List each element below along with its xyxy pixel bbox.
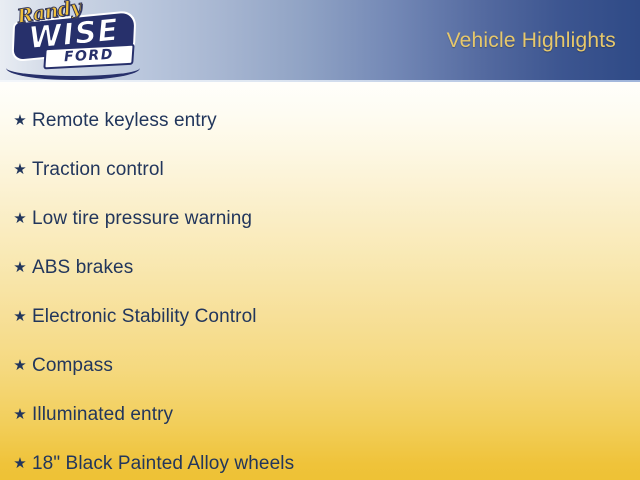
star-bullet-icon: ★ [8, 260, 32, 275]
star-bullet-icon: ★ [8, 113, 32, 128]
highlight-label: Illuminated entry [32, 403, 640, 427]
star-bullet-icon: ★ [8, 162, 32, 177]
logo-ford-group: FORD [43, 44, 134, 71]
page-title: Vehicle Highlights [447, 29, 616, 53]
star-bullet-icon: ★ [8, 211, 32, 226]
star-bullet-icon: ★ [8, 407, 32, 422]
logo-brand-name: FORD [43, 44, 134, 70]
highlight-label: Electronic Stability Control [32, 305, 640, 329]
star-bullet-icon: ★ [8, 309, 32, 324]
highlight-label: Low tire pressure warning [32, 207, 640, 231]
highlight-label: ABS brakes [32, 256, 640, 280]
highlight-label: Compass [32, 354, 640, 378]
dealership-logo[interactable]: Randy WISE FORD [6, 0, 142, 80]
highlight-label: Traction control [32, 158, 640, 182]
highlights-list: ★Remote keyless entry★Traction control★L… [0, 82, 640, 480]
list-item: ★Illuminated entry [0, 390, 640, 439]
list-item: ★Compass [0, 341, 640, 390]
vehicle-highlights-page: Randy WISE FORD Vehicle Highlights ★Remo… [0, 0, 640, 480]
star-bullet-icon: ★ [8, 358, 32, 373]
list-item: ★Electronic Stability Control [0, 292, 640, 341]
list-item: ★Low tire pressure warning [0, 194, 640, 243]
list-item: ★Remote keyless entry [0, 96, 640, 145]
page-header: Randy WISE FORD Vehicle Highlights [0, 0, 640, 80]
highlight-label: 18" Black Painted Alloy wheels [32, 452, 640, 476]
list-item: ★ABS brakes [0, 243, 640, 292]
highlight-label: Remote keyless entry [32, 109, 640, 133]
list-item: ★18" Black Painted Alloy wheels [0, 439, 640, 480]
star-bullet-icon: ★ [8, 456, 32, 471]
list-item: ★Traction control [0, 145, 640, 194]
